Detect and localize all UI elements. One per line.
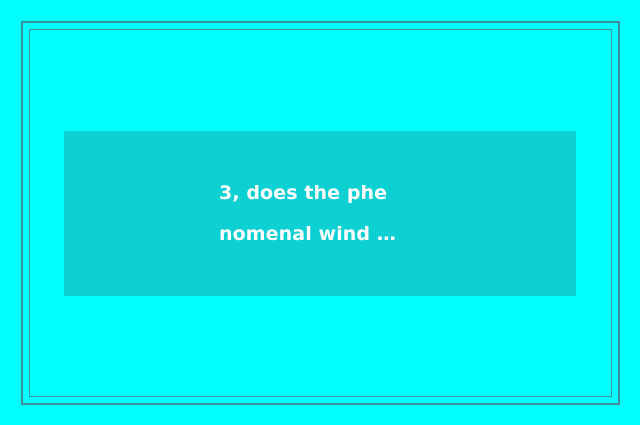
caption-line-2: nomenal wind … [219, 214, 519, 255]
caption-text-block: 3, does the phe nomenal wind … [219, 173, 519, 255]
caption-line-1: 3, does the phe [219, 173, 519, 214]
screenshot-canvas: 3, does the phe nomenal wind … [0, 0, 640, 425]
caption-panel: 3, does the phe nomenal wind … [64, 131, 576, 296]
